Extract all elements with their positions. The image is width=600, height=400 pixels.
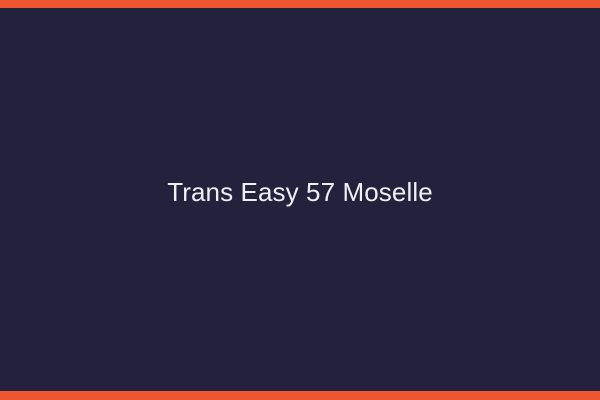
banner-content-area: Trans Easy 57 Moselle: [0, 8, 600, 391]
top-accent-bar: [0, 0, 600, 8]
placeholder-banner: Trans Easy 57 Moselle: [0, 0, 600, 400]
bottom-accent-bar: [0, 391, 600, 400]
banner-title: Trans Easy 57 Moselle: [167, 177, 433, 208]
